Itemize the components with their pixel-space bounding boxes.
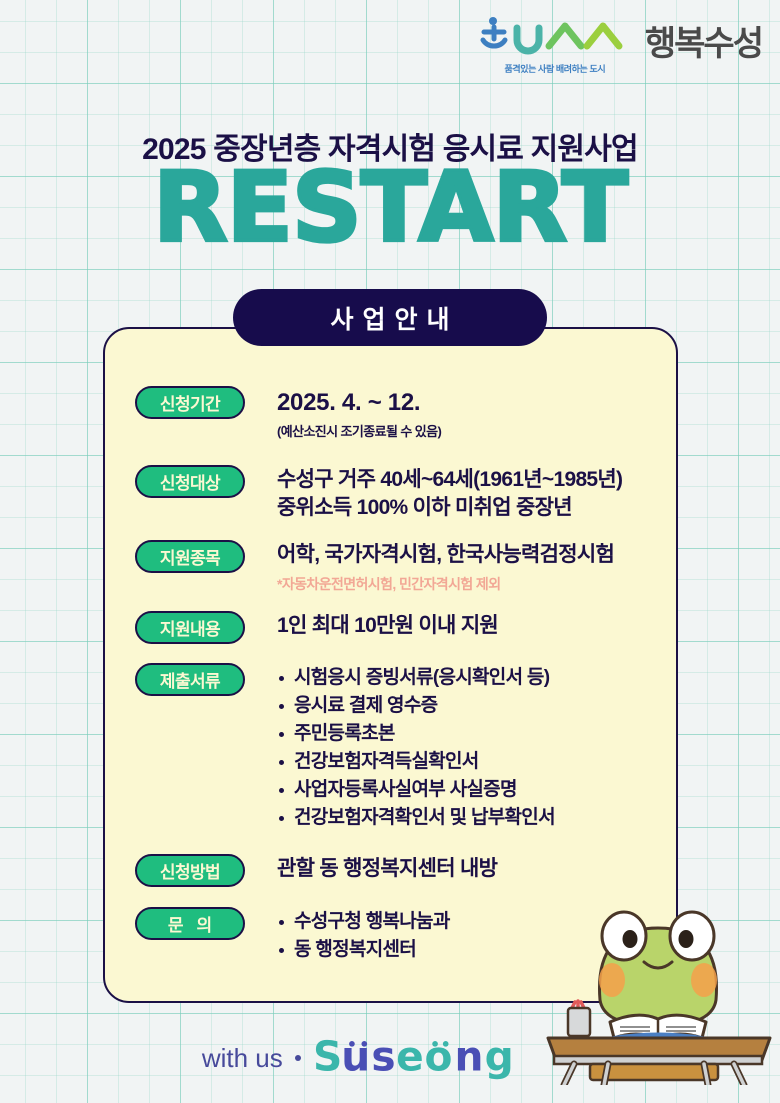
row-required-documents: 제출서류 시험응시 증빙서류(응시확인서 등) 응시료 결제 영수증 주민등록초… [103, 663, 678, 833]
row-value: 어학, 국가자격시험, 한국사능력검정시험 [277, 541, 614, 569]
row-content: 관할 동 행정복지센터 내방 [277, 854, 497, 883]
frog-studying-at-desk-icon [538, 880, 780, 1085]
list-item: 수성구청 행복나눔과 [277, 908, 450, 936]
list-item: 사업자등록사실여부 사실증명 [277, 776, 555, 804]
list-item: 주민등록초본 [277, 720, 555, 748]
svg-text:s: s [371, 1035, 396, 1080]
separator-dot-icon [295, 1055, 301, 1061]
svg-text:u: u [341, 1035, 371, 1080]
list-item: 건강보험자격득실확인서 [277, 748, 555, 776]
list-item: 시험응시 증빙서류(응시확인서 등) [277, 664, 555, 692]
row-value: 2025. 4. ~ 12. [277, 387, 441, 419]
row-label-pill: 신청기간 [135, 386, 245, 419]
row-value: 관할 동 행정복지센터 내방 [277, 855, 497, 883]
documents-list: 시험응시 증빙서류(응시확인서 등) 응시료 결제 영수증 주민등록초본 건강보… [277, 664, 555, 833]
svg-text:e: e [396, 1035, 424, 1080]
row-label-pill: 문의 [135, 907, 245, 940]
display-title: RESTART [0, 160, 780, 256]
row-label-pill: 신청방법 [135, 854, 245, 887]
row-content: 수성구청 행복나눔과 동 행정복지센터 [277, 907, 450, 964]
info-rows: 신청기간 2025. 4. ~ 12. (예산소진시 조기종료될 수 있음) 신… [103, 386, 678, 965]
row-note: (예산소진시 조기종료될 수 있음) [277, 421, 441, 440]
contact-list: 수성구청 행복나눔과 동 행정복지센터 [277, 908, 450, 964]
row-label-pill: 지원종목 [135, 540, 245, 573]
row-support-amount: 지원내용 1인 최대 10만원 이내 지원 [103, 611, 678, 644]
happy-suseong-logo-icon [471, 14, 639, 60]
row-content: 시험응시 증빙서류(응시확인서 등) 응시료 결제 영수증 주민등록초본 건강보… [277, 663, 555, 833]
svg-text:o: o [424, 1035, 453, 1080]
row-supported-exams: 지원종목 어학, 국가자격시험, 한국사능력검정시험 *자동차운전면허시험, 민… [103, 540, 678, 594]
row-label-pill: 지원내용 [135, 611, 245, 644]
list-item: 응시료 결제 영수증 [277, 692, 555, 720]
row-content: 어학, 국가자격시험, 한국사능력검정시험 *자동차운전면허시험, 민간자격시험… [277, 540, 614, 594]
row-eligibility: 신청대상 수성구 거주 40세~64세(1961년~1985년) 중위소득 10… [103, 465, 678, 522]
svg-text:S: S [313, 1035, 343, 1080]
section-badge: 사업안내 [233, 289, 547, 346]
row-content: 2025. 4. ~ 12. (예산소진시 조기종료될 수 있음) [277, 386, 441, 440]
row-content: 1인 최대 10만원 이내 지원 [277, 611, 498, 640]
brand-logo: 품격있는 사람 배려하는 도시 행복수성 [471, 14, 762, 75]
logo-mark-group: 품격있는 사람 배려하는 도시 [471, 14, 639, 75]
svg-text:n: n [454, 1035, 484, 1080]
row-label-pill: 신청대상 [135, 465, 245, 498]
row-value: 1인 최대 10만원 이내 지원 [277, 612, 498, 640]
row-value-line2: 중위소득 100% 이하 미취업 중장년 [277, 494, 622, 522]
row-content: 수성구 거주 40세~64세(1961년~1985년) 중위소득 100% 이하… [277, 465, 622, 522]
poster-root: 품격있는 사람 배려하는 도시 행복수성 2025 중장년층 자격시험 응시료 … [0, 0, 780, 1103]
list-item: 건강보험자격확인서 및 납부확인서 [277, 804, 555, 832]
svg-text:g: g [484, 1035, 514, 1080]
row-application-period: 신청기간 2025. 4. ~ 12. (예산소진시 조기종료될 수 있음) [103, 386, 678, 440]
logo-tagline: 품격있는 사람 배려하는 도시 [471, 62, 639, 75]
list-item: 동 행정복지센터 [277, 936, 450, 964]
with-us-label: with us [202, 1043, 283, 1074]
row-label-pill: 제출서류 [135, 663, 245, 696]
row-value-line1: 수성구 거주 40세~64세(1961년~1985년) [277, 466, 622, 494]
logo-wordmark: 행복수성 [645, 16, 762, 65]
row-note: *자동차운전면허시험, 민간자격시험 제외 [277, 574, 614, 594]
